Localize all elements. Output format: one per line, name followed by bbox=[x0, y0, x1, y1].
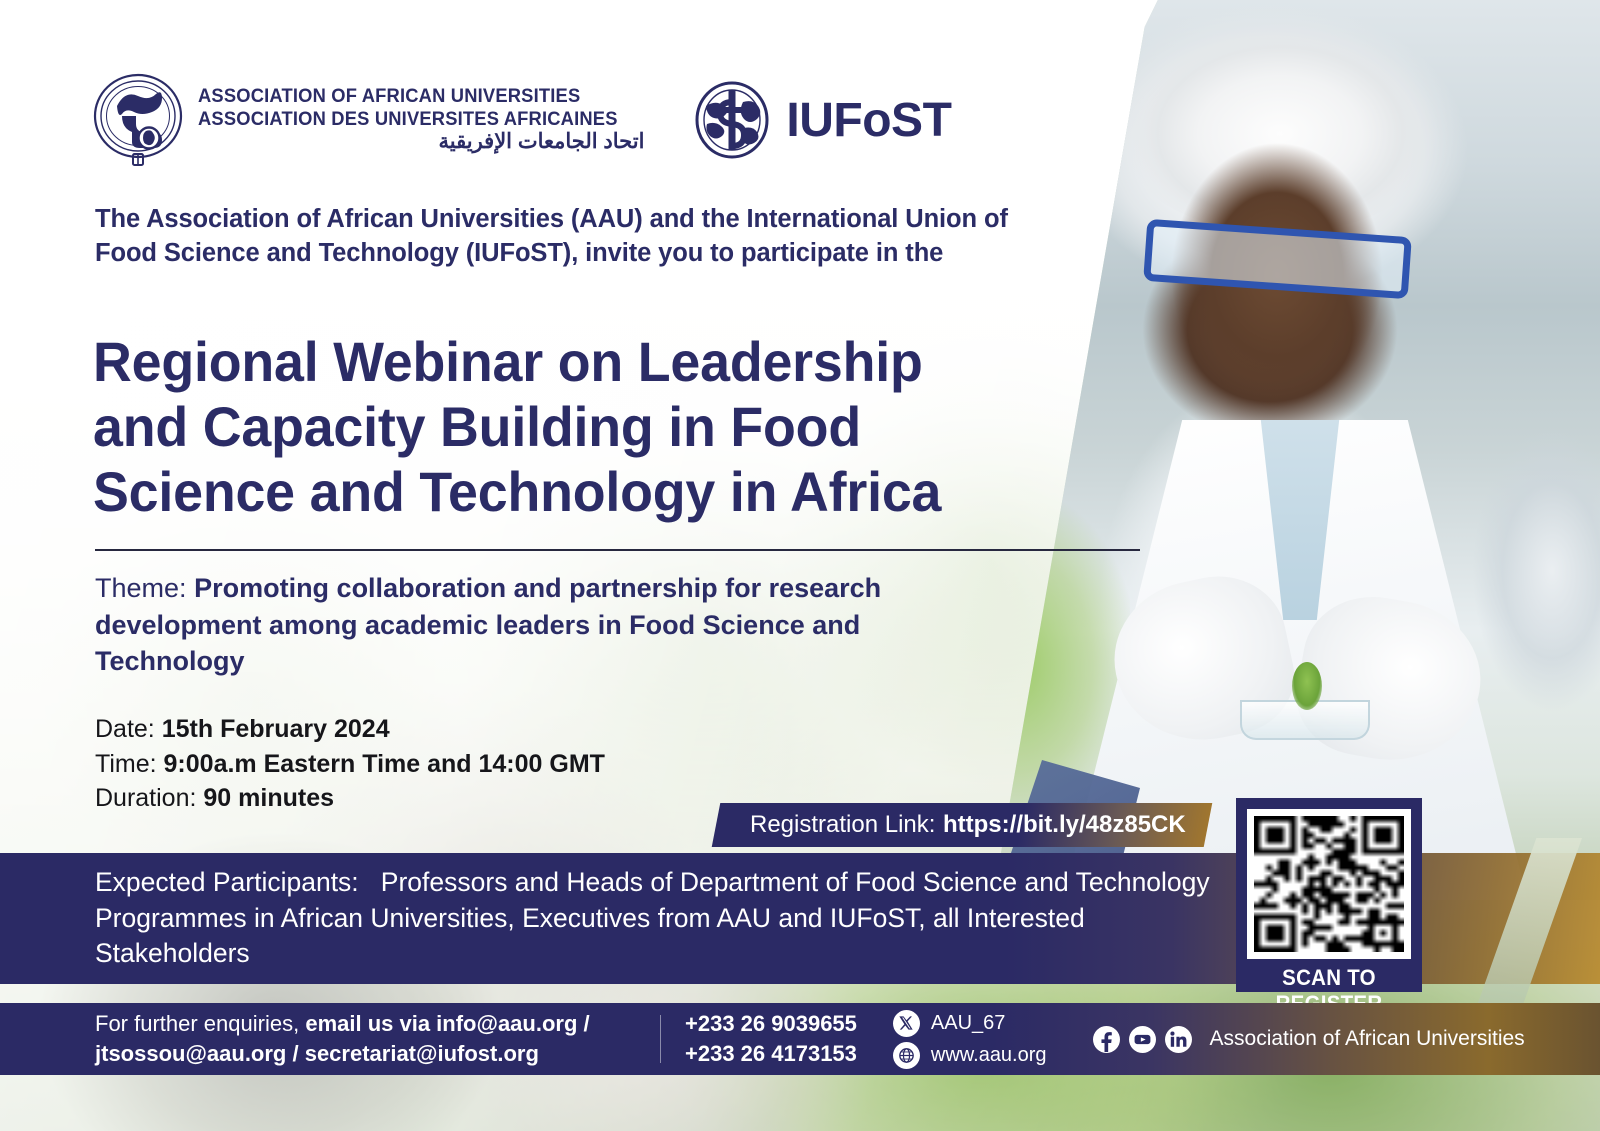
footer-band: For further enquiries, email us via info… bbox=[0, 1003, 1600, 1075]
participants-band: Expected Participants: Professors and He… bbox=[0, 853, 1395, 984]
registration-link-banner[interactable]: Registration Link: https://bit.ly/48z85C… bbox=[712, 803, 1213, 847]
intro-paragraph: The Association of African Universities … bbox=[95, 203, 1025, 270]
footer-social-handles: AAU_67 www.aau.org bbox=[893, 1010, 1047, 1069]
aau-wordmark: ASSOCIATION OF AFRICAN UNIVERSITIES ASSO… bbox=[198, 85, 644, 155]
facebook-icon[interactable] bbox=[1093, 1026, 1120, 1053]
qr-code-icon[interactable] bbox=[1247, 809, 1411, 959]
poster-canvas: ASSOCIATION OF AFRICAN UNIVERSITIES ASSO… bbox=[0, 0, 1600, 1131]
divider-rule bbox=[95, 549, 1140, 551]
participants-label: Expected Participants: bbox=[95, 867, 359, 897]
time-label: Time: bbox=[95, 750, 157, 778]
phone-1: +233 26 9039655 bbox=[685, 1009, 857, 1039]
phone-2: +233 26 4173153 bbox=[685, 1039, 857, 1069]
registration-label: Registration Link: bbox=[750, 811, 935, 839]
theme-label: Theme: bbox=[95, 573, 187, 603]
aau-logo: ASSOCIATION OF AFRICAN UNIVERSITIES ASSO… bbox=[92, 72, 644, 168]
page-title: Regional Webinar on Leadership and Capac… bbox=[93, 330, 957, 525]
x-twitter-icon[interactable] bbox=[893, 1010, 920, 1037]
footer-brand-links: Association of African Universities bbox=[1093, 1026, 1525, 1053]
detail-time: Time: 9:00a.m Eastern Time and 14:00 GMT bbox=[95, 747, 605, 782]
aau-line-fr: ASSOCIATION DES UNIVERSITES AFRICAINES bbox=[198, 108, 618, 131]
date-value: 15th February 2024 bbox=[162, 715, 390, 743]
x-handle: AAU_67 bbox=[931, 1012, 1006, 1035]
date-label: Date: bbox=[95, 715, 155, 743]
registration-url[interactable]: https://bit.ly/48z85CK bbox=[943, 811, 1186, 838]
iufost-wordmark: IUFoST bbox=[786, 93, 951, 148]
footer-phones: +233 26 9039655 +233 26 4173153 bbox=[685, 1009, 857, 1068]
photo-seedling bbox=[1292, 662, 1322, 710]
iufost-logo: IUFoST bbox=[694, 80, 951, 160]
social-x-row[interactable]: AAU_67 bbox=[893, 1010, 1047, 1037]
aau-crest-icon bbox=[92, 72, 184, 168]
event-details: Date: 15th February 2024 Time: 9:00a.m E… bbox=[95, 712, 605, 816]
linkedin-icon[interactable] bbox=[1165, 1026, 1192, 1053]
enquiries-prefix: For further enquiries, bbox=[95, 1011, 299, 1036]
logo-row: ASSOCIATION OF AFRICAN UNIVERSITIES ASSO… bbox=[92, 72, 951, 168]
detail-duration: Duration: 90 minutes bbox=[95, 781, 605, 816]
theme-value: Promoting collaboration and partnership … bbox=[95, 573, 881, 676]
theme-block: Theme: Promoting collaboration and partn… bbox=[95, 570, 975, 680]
participants-text: Expected Participants: Professors and He… bbox=[95, 865, 1225, 972]
aau-line-ar: اتحاد الجامعات الإفريقية bbox=[198, 130, 644, 154]
duration-value: 90 minutes bbox=[203, 784, 334, 812]
footer-enquiries: For further enquiries, email us via info… bbox=[95, 1009, 660, 1068]
website-url: www.aau.org bbox=[931, 1044, 1047, 1067]
social-web-row[interactable]: www.aau.org bbox=[893, 1042, 1047, 1069]
qr-panel[interactable]: SCAN TO REGISTER bbox=[1236, 798, 1422, 992]
time-value: 9:00a.m Eastern Time and 14:00 GMT bbox=[164, 750, 605, 778]
detail-date: Date: 15th February 2024 bbox=[95, 712, 605, 747]
brand-label: Association of African Universities bbox=[1210, 1027, 1525, 1051]
globe-icon[interactable] bbox=[893, 1042, 920, 1069]
youtube-icon[interactable] bbox=[1129, 1026, 1156, 1053]
aau-line-en: ASSOCIATION OF AFRICAN UNIVERSITIES bbox=[198, 85, 618, 108]
iufost-globe-icon bbox=[694, 80, 770, 160]
duration-label: Duration: bbox=[95, 784, 196, 812]
footer-divider-1 bbox=[660, 1015, 661, 1063]
